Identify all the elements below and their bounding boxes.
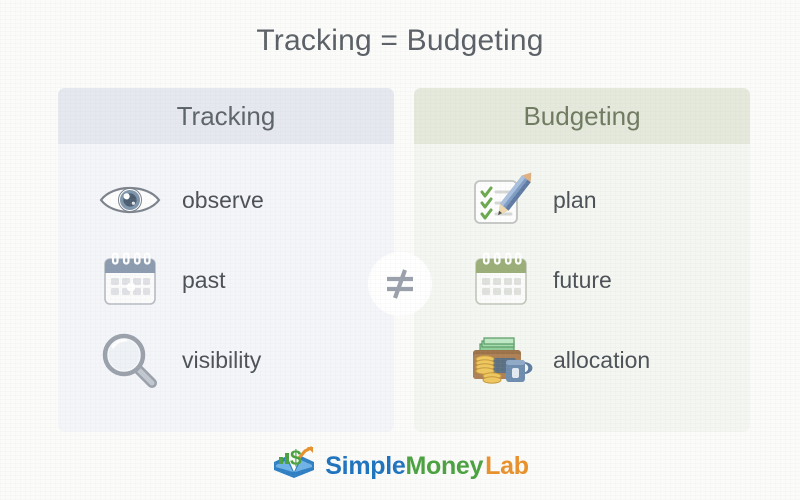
list-item-label: plan [553,187,596,214]
wallet-coins-mug-icon [469,329,533,391]
panel-budgeting-body: plan [414,144,750,432]
list-item-label: allocation [553,347,650,374]
site-logo[interactable]: $ Simple Money Lab [0,446,800,487]
list-item-label: visibility [182,347,261,374]
not-equal-badge [368,252,432,316]
logo-text-lab: Lab [485,452,529,481]
list-item: allocation [414,320,750,400]
list-item-label: observe [182,187,264,214]
panel-tracking-body: observe [58,144,394,432]
list-item: plan [414,160,750,240]
list-item: observe [58,160,394,240]
list-item: future [414,240,750,320]
panel-tracking: Tracking observe [58,88,394,432]
magnifying-glass-icon [98,329,162,391]
eye-icon [98,169,162,231]
panel-tracking-header: Tracking [58,88,394,144]
list-item-label: past [182,267,225,294]
list-item-label: future [553,267,612,294]
svg-text:$: $ [290,447,302,470]
calendar-future-icon [469,249,533,311]
open-book-dollar-arrow-icon: $ [271,446,317,487]
list-item: visibility [58,320,394,400]
page-title: Tracking = Budgeting [0,24,800,58]
not-equal-icon [378,262,422,306]
panel-budgeting: Budgeting [414,88,750,432]
panel-budgeting-header: Budgeting [414,88,750,144]
logo-text-simple: Simple [325,452,405,481]
list-item: past [58,240,394,320]
logo-text-money: Money [405,452,483,481]
checklist-pencil-icon [469,169,533,231]
calendar-past-icon [98,249,162,311]
